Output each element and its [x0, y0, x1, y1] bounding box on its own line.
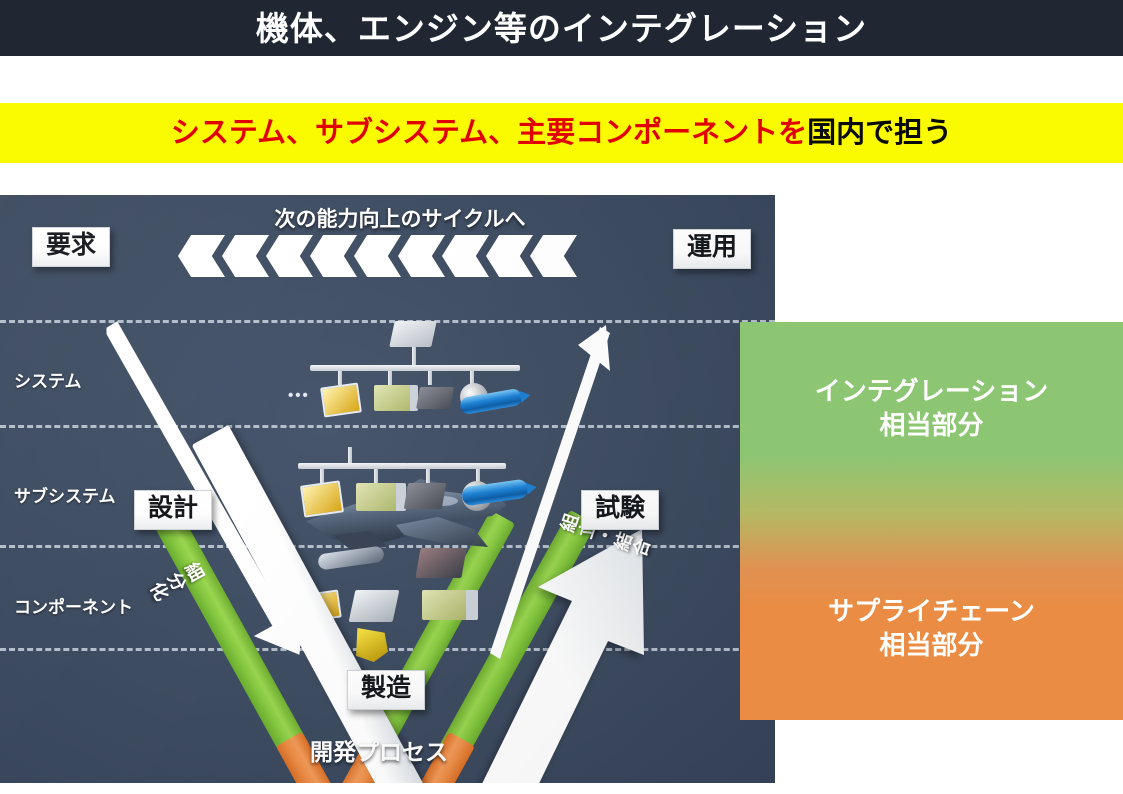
stage-chip-test[interactable]: 試験 — [581, 490, 659, 530]
legend-integration: インテグレーション 相当部分 — [740, 374, 1123, 443]
cycle-chevron-strip — [178, 235, 613, 277]
chevron-left-icon — [222, 235, 269, 277]
legend-integration-line2: 相当部分 — [740, 408, 1123, 442]
legend-supply-chain-line2: 相当部分 — [740, 628, 1123, 662]
banner-text: システム、サブシステム、主要コンポーネントを国内で担う — [171, 119, 952, 148]
process-caption: 開発プロセス — [310, 733, 448, 767]
stage-chip-manufacture[interactable]: 製造 — [347, 670, 425, 710]
legend-panel: インテグレーション 相当部分 サプライチェーン 相当部分 — [740, 322, 1123, 720]
cycle-caption: 次の能力向上のサイクルへ — [190, 203, 610, 233]
development-process-diagram: システム サブシステム コンポーネント — [0, 195, 775, 783]
chevron-left-icon — [530, 235, 577, 277]
chevron-left-icon — [310, 235, 357, 277]
highlight-banner: システム、サブシステム、主要コンポーネントを国内で担う — [0, 103, 1123, 163]
legend-integration-line1: インテグレーション — [740, 374, 1123, 408]
chevron-left-icon — [354, 235, 401, 277]
legend-supply-chain: サプライチェーン 相当部分 — [740, 594, 1123, 663]
stage-chip-requirement[interactable]: 要求 — [32, 227, 110, 267]
chevron-left-icon — [486, 235, 533, 277]
chevron-left-icon — [266, 235, 313, 277]
page-title: 機体、エンジン等のインテグレーション — [256, 12, 867, 45]
chevron-left-icon — [178, 235, 225, 277]
banner-black-text: 国内で担う — [807, 117, 952, 149]
stage-chip-design[interactable]: 設計 — [134, 490, 212, 530]
legend-supply-chain-line1: サプライチェーン — [740, 594, 1123, 628]
chevron-left-icon — [398, 235, 445, 277]
stage-chip-operation[interactable]: 運用 — [673, 229, 751, 269]
tier-label-system: システム — [14, 367, 82, 392]
banner-red-text: システム、サブシステム、主要コンポーネントを — [171, 117, 807, 149]
slide-title-bar: 機体、エンジン等のインテグレーション — [0, 0, 1123, 56]
chevron-left-icon — [442, 235, 489, 277]
